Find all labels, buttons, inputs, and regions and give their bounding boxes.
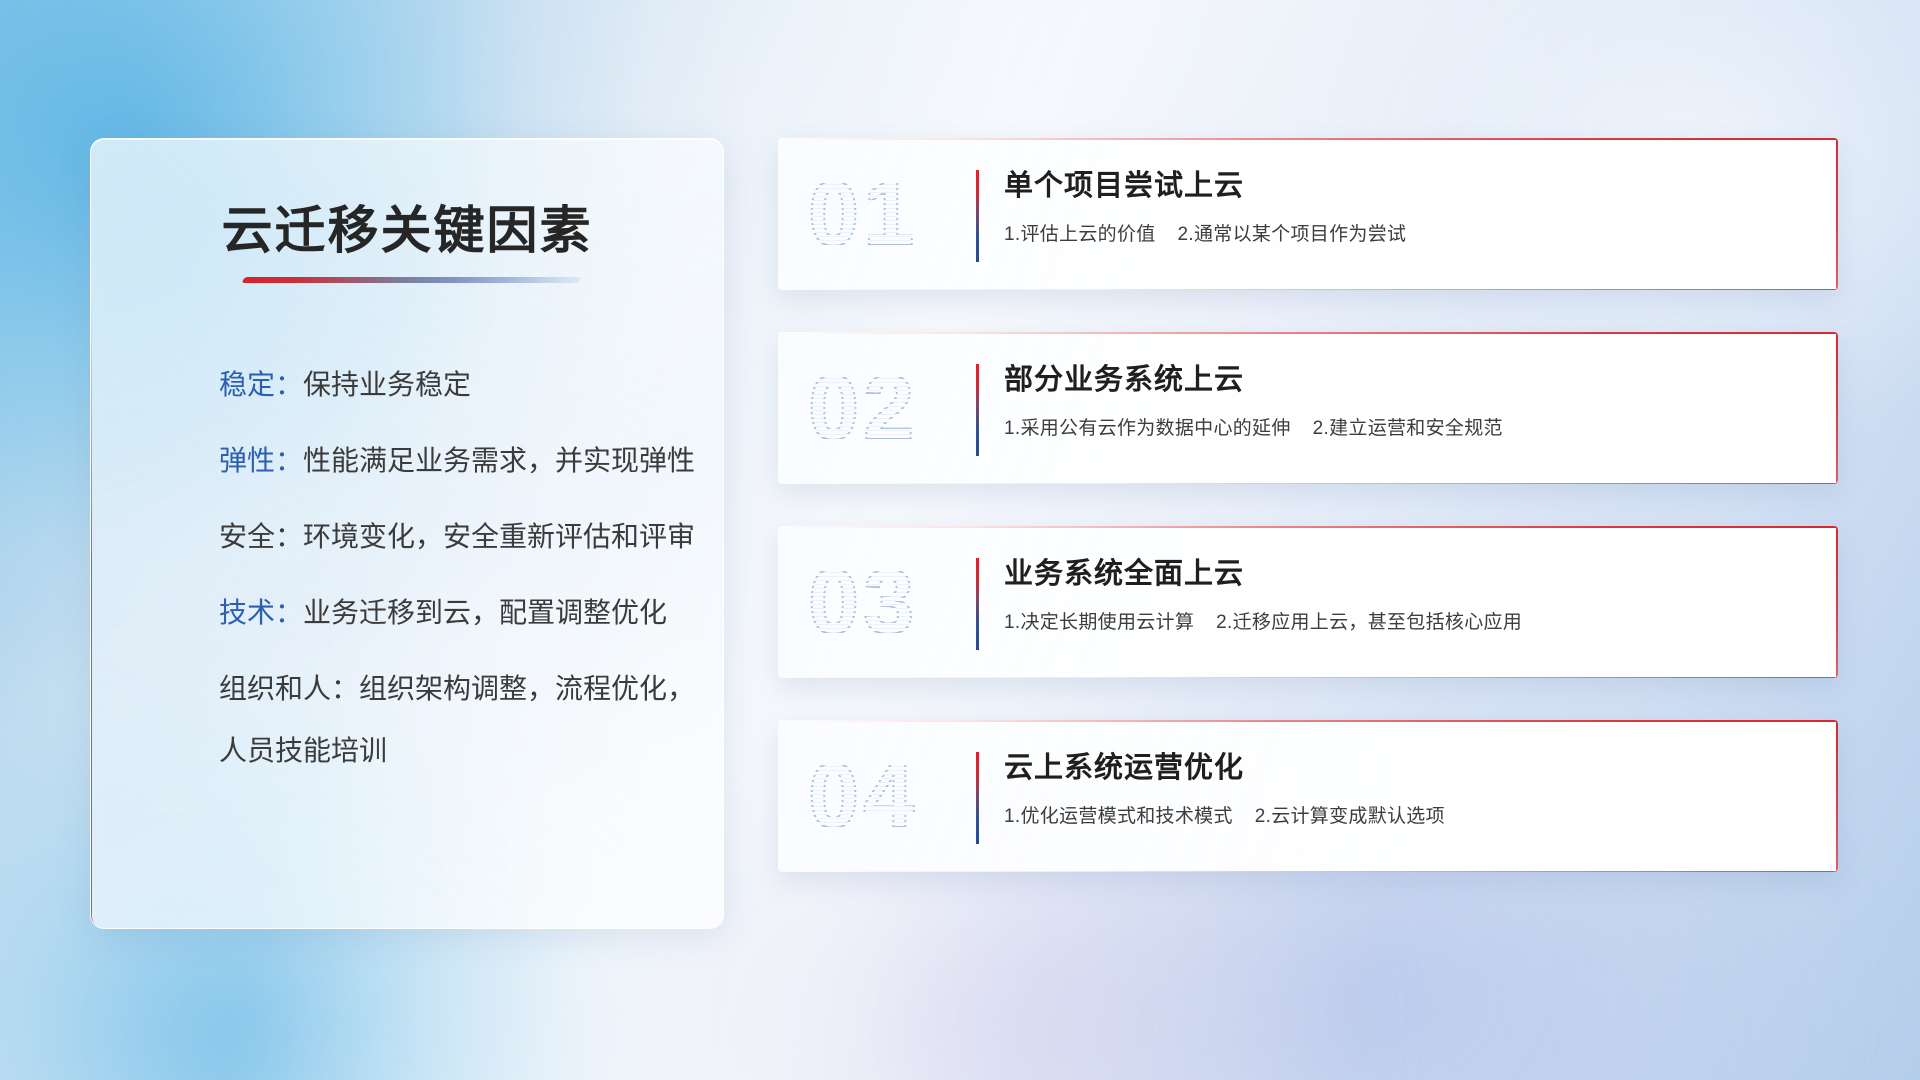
- card-edge-top: [778, 526, 1838, 528]
- factor-item-elasticity: 弹性：性能满足业务需求，并实现弹性: [219, 447, 683, 475]
- step-subtitle: 1.采用公有云作为数据中心的延伸2.建立运营和安全规范: [1004, 413, 1814, 440]
- step-body: 云上系统运营优化 1.优化运营模式和技术模式2.云计算变成默认选项: [1004, 752, 1814, 828]
- title-underline-rule: [241, 277, 581, 283]
- slide-canvas: 云迁移关键因素 稳定：保持业务稳定 弹性：性能满足业务需求，并实现弹性 安全：环…: [0, 0, 1920, 1080]
- step-point-1: 1.决定长期使用云计算: [1004, 612, 1194, 633]
- factor-label: 安全：: [219, 521, 303, 552]
- page-title: 云迁移关键因素: [91, 189, 723, 263]
- step-subtitle: 1.优化运营模式和技术模式2.云计算变成默认选项: [1004, 801, 1814, 828]
- step-number: 04: [808, 750, 918, 842]
- step-body: 部分业务系统上云 1.采用公有云作为数据中心的延伸2.建立运营和安全规范: [1004, 364, 1814, 440]
- step-divider-bar: [976, 558, 979, 650]
- step-card-04[interactable]: 04 04 云上系统运营优化 1.优化运营模式和技术模式2.云计算变成默认选项: [778, 720, 1838, 872]
- card-edge-right: [1836, 526, 1838, 678]
- step-divider-bar: [976, 170, 979, 262]
- step-number: 02: [808, 362, 918, 454]
- step-point-2: 2.迁移应用上云，甚至包括核心应用: [1216, 612, 1522, 633]
- step-body: 业务系统全面上云 1.决定长期使用云计算2.迁移应用上云，甚至包括核心应用: [1004, 558, 1814, 634]
- factor-list: 稳定：保持业务稳定 弹性：性能满足业务需求，并实现弹性 安全：环境变化，安全重新…: [219, 371, 683, 765]
- step-point-2: 2.通常以某个项目作为尝试: [1178, 224, 1407, 245]
- step-card-01[interactable]: 01 01 单个项目尝试上云 1.评估上云的价值2.通常以某个项目作为尝试: [778, 138, 1838, 290]
- step-point-1: 1.优化运营模式和技术模式: [1004, 806, 1233, 827]
- factor-text: 业务迁移到云，配置调整优化: [303, 597, 667, 628]
- step-subtitle: 1.评估上云的价值2.通常以某个项目作为尝试: [1004, 219, 1814, 246]
- factor-label: 组织和人：: [219, 673, 359, 704]
- step-point-1: 1.评估上云的价值: [1004, 224, 1156, 245]
- factor-item-stability: 稳定：保持业务稳定: [219, 371, 683, 399]
- card-edge-right: [1836, 720, 1838, 872]
- card-edge-top: [778, 138, 1838, 140]
- card-edge-bottom: [778, 677, 1838, 678]
- factor-label: 弹性：: [219, 445, 303, 476]
- factor-text: 人员技能培训: [219, 735, 387, 766]
- factor-item-organization-continued: 人员技能培训: [219, 737, 683, 765]
- card-edge-right: [1836, 332, 1838, 484]
- factor-text: 保持业务稳定: [303, 369, 471, 400]
- step-point-2: 2.云计算变成默认选项: [1255, 806, 1445, 827]
- step-body: 单个项目尝试上云 1.评估上云的价值2.通常以某个项目作为尝试: [1004, 170, 1814, 246]
- factor-item-technology: 技术：业务迁移到云，配置调整优化: [219, 599, 683, 627]
- card-edge-top: [778, 332, 1838, 334]
- factor-text: 性能满足业务需求，并实现弹性: [303, 445, 695, 476]
- card-edge-top: [778, 720, 1838, 722]
- step-title: 业务系统全面上云: [1004, 558, 1814, 591]
- step-number: 03: [808, 556, 918, 648]
- migration-steps-list: 01 01 单个项目尝试上云 1.评估上云的价值2.通常以某个项目作为尝试 02…: [778, 138, 1838, 872]
- step-title: 部分业务系统上云: [1004, 364, 1814, 397]
- step-divider-bar: [976, 752, 979, 844]
- card-edge-bottom: [778, 289, 1838, 290]
- factor-label: 稳定：: [219, 369, 303, 400]
- step-point-2: 2.建立运营和安全规范: [1313, 418, 1503, 439]
- step-title: 单个项目尝试上云: [1004, 170, 1814, 203]
- step-divider-bar: [976, 364, 979, 456]
- factor-text: 组织架构调整，流程优化，: [359, 673, 695, 704]
- step-subtitle: 1.决定长期使用云计算2.迁移应用上云，甚至包括核心应用: [1004, 607, 1814, 634]
- card-edge-right: [1836, 138, 1838, 290]
- card-edge-bottom: [778, 871, 1838, 872]
- key-factors-card: 云迁移关键因素 稳定：保持业务稳定 弹性：性能满足业务需求，并实现弹性 安全：环…: [90, 138, 724, 929]
- step-card-02[interactable]: 02 02 部分业务系统上云 1.采用公有云作为数据中心的延伸2.建立运营和安全…: [778, 332, 1838, 484]
- step-point-1: 1.采用公有云作为数据中心的延伸: [1004, 418, 1291, 439]
- step-title: 云上系统运营优化: [1004, 752, 1814, 785]
- factor-label: 技术：: [219, 597, 303, 628]
- card-edge-bottom: [778, 483, 1838, 484]
- step-card-03[interactable]: 03 03 业务系统全面上云 1.决定长期使用云计算2.迁移应用上云，甚至包括核…: [778, 526, 1838, 678]
- step-number: 01: [808, 168, 918, 260]
- factor-text: 环境变化，安全重新评估和评审: [303, 521, 695, 552]
- factor-item-organization: 组织和人：组织架构调整，流程优化，: [219, 675, 683, 703]
- factor-item-security: 安全：环境变化，安全重新评估和评审: [219, 523, 683, 551]
